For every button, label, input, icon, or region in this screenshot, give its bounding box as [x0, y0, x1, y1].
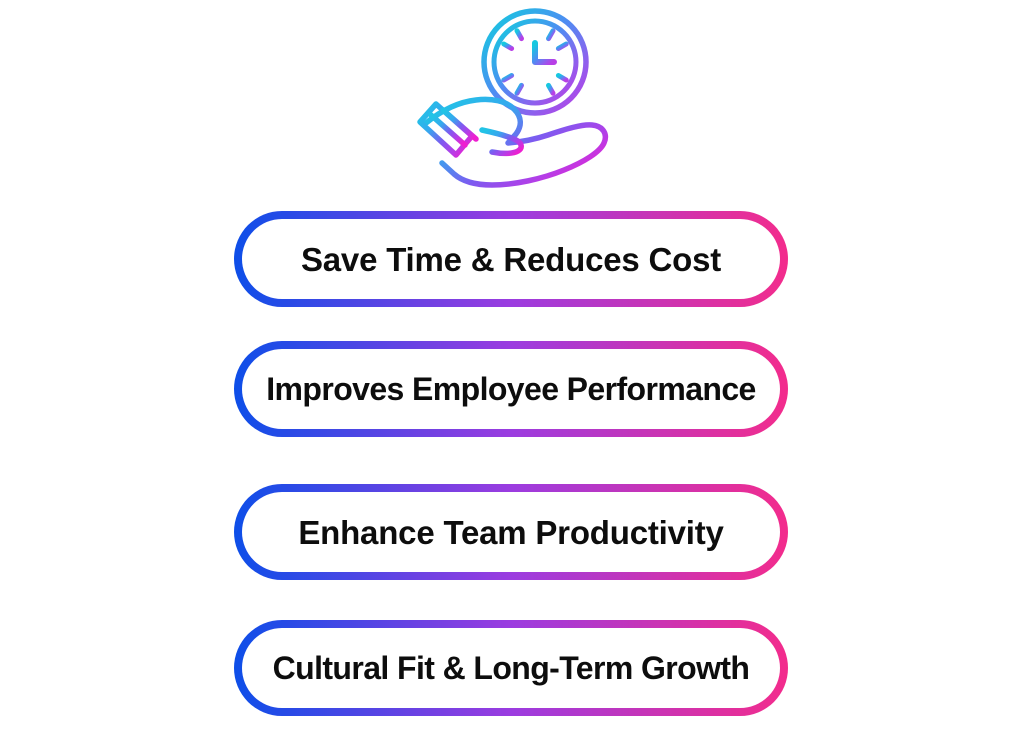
benefit-label: Cultural Fit & Long-Term Growth — [273, 652, 750, 684]
clock-icon — [484, 11, 586, 113]
benefit-pill-inner: Improves Employee Performance — [242, 349, 780, 429]
hand-holding-clock-icon — [396, 2, 636, 197]
open-hand-icon — [420, 99, 605, 185]
benefit-pill[interactable]: Cultural Fit & Long-Term Growth — [234, 620, 788, 716]
infographic-canvas: Save Time & Reduces Cost Improves Employ… — [0, 0, 1024, 753]
benefit-label: Save Time & Reduces Cost — [301, 243, 721, 276]
benefit-pill-inner: Cultural Fit & Long-Term Growth — [242, 628, 780, 708]
benefit-pill-inner: Save Time & Reduces Cost — [242, 219, 780, 299]
benefit-label: Improves Employee Performance — [266, 373, 755, 405]
benefit-label: Enhance Team Productivity — [298, 516, 723, 549]
benefit-pill-inner: Enhance Team Productivity — [242, 492, 780, 572]
benefit-pill[interactable]: Improves Employee Performance — [234, 341, 788, 437]
benefit-pill[interactable]: Save Time & Reduces Cost — [234, 211, 788, 307]
benefit-pill[interactable]: Enhance Team Productivity — [234, 484, 788, 580]
